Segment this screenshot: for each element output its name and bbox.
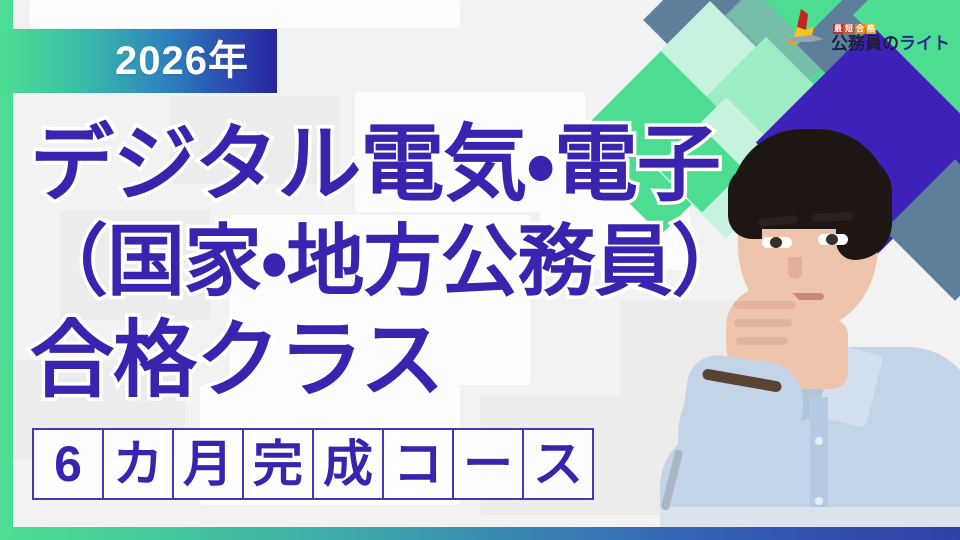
logo-tag-char: 合 xyxy=(855,24,865,34)
course-cell: 6 xyxy=(32,428,104,500)
headline-line-2: （国家・地方公務員） xyxy=(30,222,749,300)
logo-tag-char: 最 xyxy=(833,24,843,34)
year-badge: 2026年 xyxy=(0,29,277,93)
course-cell: カ xyxy=(102,428,174,500)
course-cell: コ xyxy=(382,428,454,500)
course-cell: ス xyxy=(522,428,594,500)
course-cell: 月 xyxy=(172,428,244,500)
flame-bird-logo-icon xyxy=(781,8,827,52)
bottom-gradient-bar xyxy=(0,527,960,540)
logo-tagline: 最 短 合 格 xyxy=(833,24,876,34)
course-cell: 成 xyxy=(312,428,384,500)
course-cell: ー xyxy=(452,428,524,500)
bg-panel xyxy=(30,0,460,28)
logo-brand-name-accent: ライト xyxy=(899,34,950,53)
student-photo xyxy=(660,97,960,527)
brand-logo[interactable]: 最 短 合 格 公務員のライト xyxy=(781,8,950,52)
logo-tag-char: 格 xyxy=(866,24,876,34)
headline-line-1: デジタル電気・電子 xyxy=(30,122,720,206)
course-cell: 完 xyxy=(242,428,314,500)
headline-line-3: 合格クラス xyxy=(30,318,443,402)
course-banner: 2026年 デジタル電気・電子 （国家・地方公務員） 合格クラス 6 カ 月 完… xyxy=(0,0,960,540)
logo-tag-char: 短 xyxy=(844,24,854,34)
logo-brand-name-main: 公務員の xyxy=(831,34,899,53)
logo-brand-name: 公務員のライト xyxy=(831,35,950,52)
year-badge-label: 2026年 xyxy=(115,41,249,81)
course-badge: 6 カ 月 完 成 コ ー ス xyxy=(32,428,592,500)
logo-text: 最 短 合 格 公務員のライト xyxy=(831,24,950,52)
